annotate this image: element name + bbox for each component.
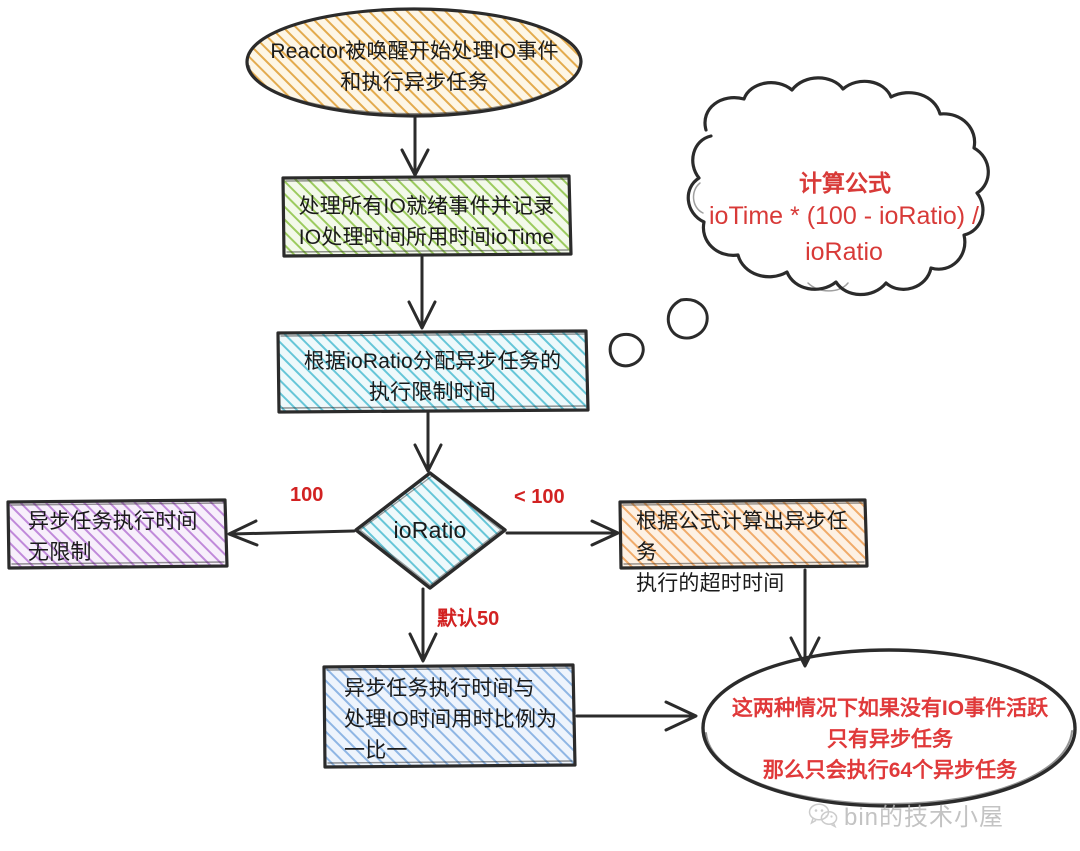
edge-label-left-branch: 100 xyxy=(290,483,323,507)
arrow-process-to-alloc xyxy=(409,257,435,328)
edge-label-down-branch: 默认50 xyxy=(437,607,499,631)
arrow-decision-to-formula xyxy=(507,521,618,545)
node-ratio-result-shape xyxy=(324,665,575,767)
node-alloc-time-shape xyxy=(278,331,588,412)
diagram-canvas: Reactor被唤醒开始处理IO事件 和执行异步任务 处理所有IO就绪事件并记录… xyxy=(0,0,1080,851)
node-unlimited-shape xyxy=(8,500,227,568)
arrow-decision-to-ratio xyxy=(410,589,436,661)
arrow-start-to-process xyxy=(402,118,428,175)
node-note-ellipse-label: 这两种情况下如果没有IO事件活跃 只有异步任务 那么只会执行64个异步任务 xyxy=(715,693,1065,786)
watermark-text: bin的技术小屋 xyxy=(844,797,1004,832)
node-start-ellipse-shape xyxy=(247,8,581,116)
wechat-icon xyxy=(808,802,838,828)
arrow-ratio-to-note xyxy=(577,702,696,730)
cloud-title-label: 计算公式 xyxy=(700,166,990,200)
arrow-decision-to-unlimited xyxy=(229,521,354,545)
node-decision-shape xyxy=(356,473,505,588)
thought-bubble-small xyxy=(610,334,643,365)
node-formula-calc-shape xyxy=(620,500,867,568)
arrow-formula-to-note xyxy=(791,570,819,666)
thought-bubble-large xyxy=(668,300,707,339)
edge-label-right-branch: < 100 xyxy=(514,485,565,509)
node-process-io-shape xyxy=(283,176,571,256)
arrow-alloc-to-decision xyxy=(415,413,441,471)
cloud-formula-label: ioTime * (100 - ioRatio) / ioRatio xyxy=(668,198,1020,270)
watermark: bin的技术小屋 xyxy=(808,797,1004,832)
